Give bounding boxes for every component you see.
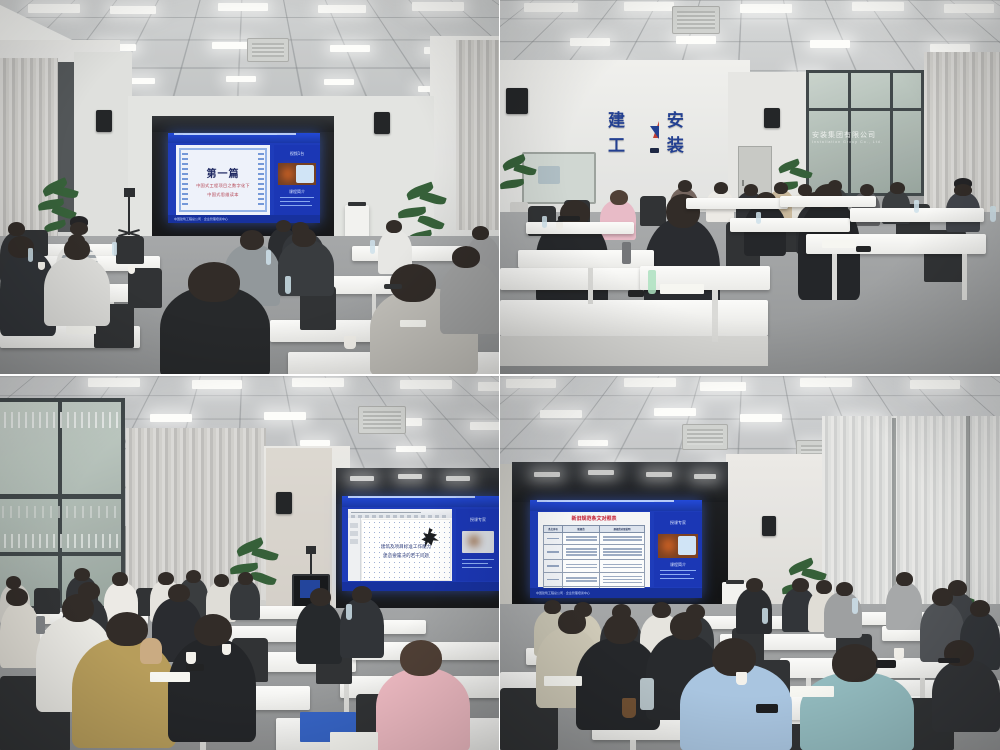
slide-footer-text: 中国建筑工程总公司 · 企业管理培训中心 <box>174 217 228 221</box>
slide-footer-text: 中国建筑工程总公司 · 企业管理培训中心 <box>536 591 590 595</box>
water-bottle <box>112 242 117 256</box>
slide-side-label: 授课专家 <box>456 517 499 523</box>
training-desk <box>686 198 788 209</box>
slide-side-label-bottom: 课程简介 <box>654 562 702 568</box>
slide-table-body: 新旧规范条文对照表 条文序号 新规范 原规范对照说明 <box>538 512 650 587</box>
water-bottle <box>648 270 656 294</box>
wall-logo-text-right: 安装 <box>667 106 704 156</box>
comparison-table: 条文序号 新规范 原规范对照说明 <box>543 525 645 598</box>
attendee <box>296 602 342 664</box>
attendee <box>440 262 499 334</box>
paper-cup <box>222 644 231 655</box>
document-page: 建筑及项目标准工作能力 建造要属决的若干问题 <box>362 520 450 580</box>
slide-title-line-2: 建造要属决的若干问题 <box>362 553 450 559</box>
notepad <box>790 686 834 697</box>
office-chair <box>116 236 144 264</box>
window-frosted-text-en: Installation Group Co., Ltd. <box>812 140 883 144</box>
attendee <box>376 668 470 750</box>
notebook <box>822 240 856 248</box>
wall-speaker <box>506 88 528 114</box>
notepad <box>150 672 190 682</box>
collage-panel-bottom-left: 建筑及项目标准工作能力 建造要属决的若干问题 授课专家 <box>0 376 499 750</box>
collage-panel-top-right: 建工 安装 安装集团有限公司 Installation Group Co., L… <box>500 0 1000 374</box>
table-row <box>544 573 645 587</box>
coffee-cup <box>622 698 636 718</box>
notebook <box>400 320 426 327</box>
paper-cup <box>736 672 747 685</box>
notepad <box>544 676 582 686</box>
office-chair <box>34 588 60 614</box>
slide-table-title: 新旧规范条文对照表 <box>538 515 650 522</box>
table-col-0: 条文序号 <box>544 526 563 533</box>
water-bottle <box>762 608 768 624</box>
training-desk <box>730 218 850 232</box>
window-frosted-text-cn: 安装集团有限公司 <box>812 130 876 140</box>
handout <box>330 732 378 750</box>
company-wall-logo: 建工 安装 <box>608 118 704 144</box>
training-desk <box>500 268 646 290</box>
water-bottle <box>370 240 375 254</box>
window-curtain <box>456 40 499 230</box>
collage-panel-top-left: 第一篇 中国式工程项目之数字化下 中国式思维读本 视频1台 课程简介 中国建筑工… <box>0 0 499 374</box>
slide-side-label-top: 视频1台 <box>274 151 320 157</box>
water-bottle <box>756 212 761 224</box>
water-bottle <box>28 248 33 262</box>
water-bottle <box>266 250 271 265</box>
mobile-phone[interactable] <box>856 246 871 252</box>
water-bottle <box>285 276 291 294</box>
training-desk <box>518 250 654 268</box>
attendee <box>44 256 110 326</box>
table-row <box>544 560 645 573</box>
slide-side-label-top: 授课专家 <box>654 520 702 526</box>
wall-logo-text-left: 建工 <box>608 106 645 156</box>
presentation-slide: 新旧规范条文对照表 条文序号 新规范 原规范对照说明 <box>530 500 702 598</box>
notebook <box>66 326 96 334</box>
vacuum-flask <box>622 242 631 264</box>
photo-collage: 第一篇 中国式工程项目之数字化下 中国式思维读本 视频1台 课程简介 中国建筑工… <box>0 0 1000 750</box>
table-row <box>544 545 645 560</box>
wall-speaker <box>374 112 390 134</box>
slide-side-panel: 授课专家 <box>456 509 499 581</box>
table-col-2: 原规范对照说明 <box>600 526 645 533</box>
slide-title-line-1: 建筑及项目标准工作能力 <box>362 544 450 550</box>
paper-cup <box>38 262 45 270</box>
paper-cup <box>186 652 196 664</box>
presentation-slide: 建筑及项目标准工作能力 建造要属决的若干问题 授课专家 <box>342 496 499 591</box>
water-bottle <box>852 598 858 614</box>
slide-header-bar <box>342 496 499 507</box>
mobile-phone[interactable] <box>628 290 644 297</box>
attendee <box>0 602 40 668</box>
water-bottle <box>542 216 547 228</box>
slide-body: 第一篇 中国式工程项目之数字化下 中国式思维读本 <box>176 145 270 215</box>
mobile-phone[interactable] <box>186 664 204 671</box>
training-desk <box>780 196 876 207</box>
wall-speaker <box>276 492 292 514</box>
ceiling-ac-diffuser <box>247 38 289 62</box>
attendee <box>230 580 260 620</box>
table-col-1: 新规范 <box>563 526 600 533</box>
wall-speaker <box>764 108 780 128</box>
attendee <box>886 582 922 630</box>
paper-cup <box>894 648 904 660</box>
wall-speaker <box>762 516 776 536</box>
notebook <box>660 284 704 294</box>
attendee <box>932 660 1000 732</box>
ceiling-ac-diffuser <box>672 6 720 34</box>
slide-document-body: 建筑及项目标准工作能力 建造要属决的若干问题 <box>348 509 452 581</box>
slide-subtitle-line-1: 中国式工程项目之数字化下 <box>176 183 270 189</box>
office-chair <box>128 268 162 308</box>
sail-emblem-icon <box>648 121 664 141</box>
water-bottle <box>914 200 919 213</box>
paper-cup <box>556 222 563 230</box>
mobile-phone[interactable] <box>756 704 778 713</box>
attendee <box>800 672 914 750</box>
paper-cup <box>344 336 356 349</box>
vacuum-flask <box>36 616 45 634</box>
presentation-slide: 第一篇 中国式工程项目之数字化下 中国式思维读本 视频1台 课程简介 中国建筑工… <box>168 133 320 223</box>
paper-cup <box>128 266 135 274</box>
attendee <box>600 200 636 240</box>
slide-side-panel: 授课专家 课程简介 <box>654 512 702 587</box>
water-bottle <box>346 604 352 620</box>
ceiling-ac-diffuser <box>358 406 406 434</box>
slide-footer: 中国建筑工程总公司 · 企业管理培训中心 <box>530 588 702 598</box>
training-desk <box>500 300 768 336</box>
collage-panel-bottom-right: 新旧规范条文对照表 条文序号 新规范 原规范对照说明 <box>500 376 1000 750</box>
ceiling-ac-diffuser <box>682 424 728 450</box>
office-chair <box>640 196 666 226</box>
slide-header-bar <box>168 133 320 143</box>
table-row <box>544 533 645 545</box>
vacuum-flask <box>640 678 654 710</box>
slide-title: 第一篇 <box>176 165 270 180</box>
slide-side-label-bottom: 课程简介 <box>274 189 320 195</box>
slide-subtitle-line-2: 中国式思维读本 <box>176 192 270 198</box>
slide-side-panel: 视频1台 课程简介 <box>274 145 320 215</box>
wall-speaker <box>96 110 112 132</box>
attendee <box>168 638 256 742</box>
water-bottle <box>990 206 996 222</box>
table-header-row: 条文序号 新规范 原规范对照说明 <box>544 526 645 533</box>
mobile-phone[interactable] <box>876 660 896 668</box>
slide-header-bar <box>530 500 702 511</box>
